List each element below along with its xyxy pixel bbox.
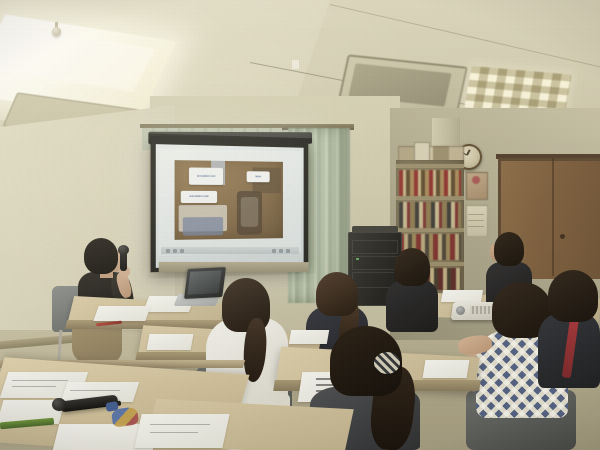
paper-text-line bbox=[70, 390, 120, 391]
paper-text-line bbox=[150, 424, 210, 425]
slide-callout: annotation note bbox=[181, 191, 217, 203]
slide-photo: annotation text label annotation note bbox=[175, 160, 283, 240]
door-handle-icon[interactable] bbox=[560, 234, 565, 239]
taskbar-icon bbox=[279, 249, 283, 253]
handout-paper bbox=[423, 360, 470, 378]
attendee-hair bbox=[316, 272, 358, 316]
bookshelf-board bbox=[396, 228, 464, 232]
bookshelf-board bbox=[396, 164, 464, 168]
sprinkler-head-icon bbox=[52, 27, 61, 36]
poster-graphic bbox=[472, 176, 480, 184]
projection-screen-bottom-bar bbox=[159, 262, 309, 272]
slide-callout: annotation text bbox=[189, 167, 223, 185]
handout-paper bbox=[147, 334, 194, 350]
wall-calendar bbox=[466, 205, 488, 237]
slide-callout-text: annotation note bbox=[189, 195, 208, 198]
taskbar-icon bbox=[180, 249, 184, 253]
hair-scrunchie bbox=[374, 352, 400, 374]
taskbar-icon bbox=[166, 249, 170, 253]
microphone-head-icon bbox=[118, 245, 129, 255]
slide-callout: label bbox=[247, 171, 270, 182]
ceiling-tile-mark bbox=[292, 60, 299, 69]
presenter-hair bbox=[84, 238, 118, 274]
slide-photo-equipment bbox=[183, 217, 223, 236]
taskbar-icon bbox=[173, 249, 177, 253]
paper-text-line bbox=[12, 386, 56, 387]
slide-callout-text: label bbox=[255, 175, 261, 178]
window-frame bbox=[140, 124, 296, 128]
bookshelf-books-row bbox=[399, 170, 461, 196]
handout-paper bbox=[93, 306, 150, 321]
av-rack-led bbox=[356, 258, 359, 260]
av-rack-slot bbox=[352, 240, 398, 254]
bookshelf-board bbox=[396, 196, 464, 200]
handout-paper bbox=[289, 330, 329, 344]
projector-vent bbox=[470, 306, 492, 314]
paper-text-line bbox=[150, 432, 198, 433]
taskbar-icon bbox=[272, 249, 276, 253]
attendee-hair bbox=[548, 270, 598, 322]
calendar-line bbox=[468, 220, 484, 221]
handout-paper bbox=[134, 414, 229, 448]
attendee-hair bbox=[494, 232, 524, 266]
paper-text-line bbox=[12, 380, 68, 381]
attendee-torso bbox=[386, 280, 438, 332]
calendar-line bbox=[468, 214, 484, 215]
taskbar-icon bbox=[286, 249, 290, 253]
seminar-room-photograph: annotation text label annotation note bbox=[0, 0, 600, 450]
slide-photo-chair-seat bbox=[241, 197, 258, 227]
bookshelf-books-row bbox=[399, 202, 461, 228]
laptop-screen bbox=[187, 270, 221, 295]
calendar-line bbox=[468, 226, 484, 227]
handout-paper bbox=[441, 290, 483, 302]
projector-lens-icon bbox=[456, 306, 465, 315]
slide-callout-text: annotation text bbox=[197, 174, 215, 178]
door-panel-seam bbox=[552, 158, 554, 276]
attendee-hair bbox=[394, 248, 430, 286]
